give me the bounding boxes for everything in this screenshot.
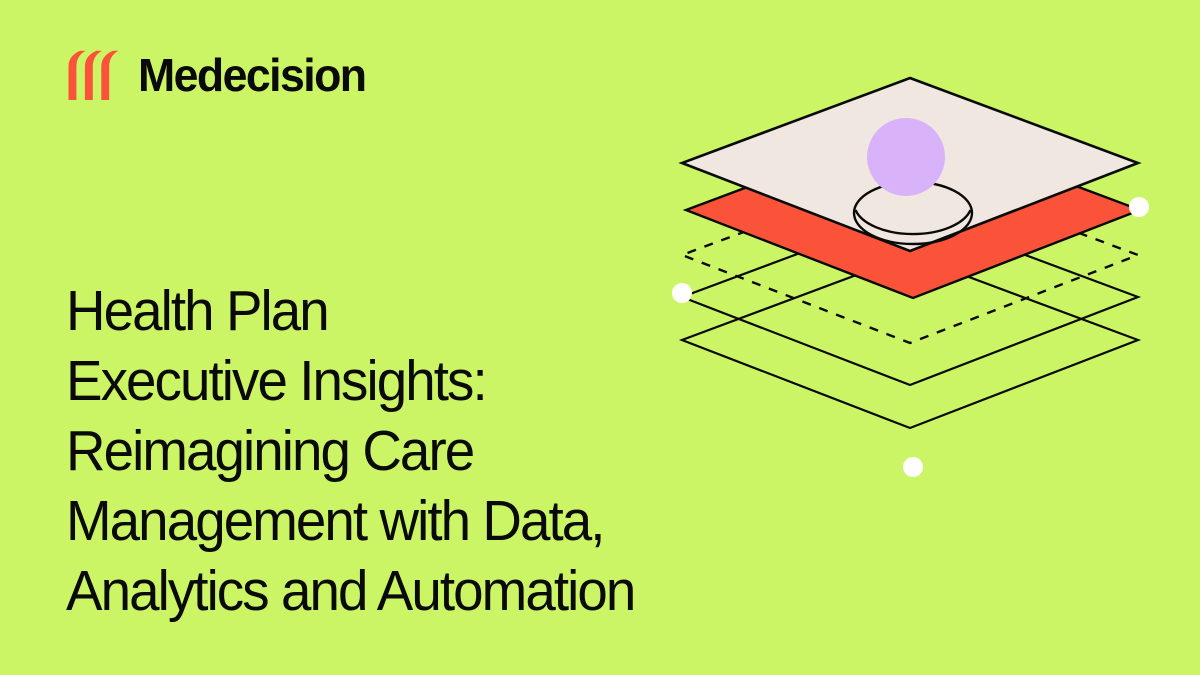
data-sphere	[867, 118, 945, 196]
node-dot-bottom[interactable]	[903, 457, 923, 477]
node-dot-right[interactable]	[1129, 197, 1149, 217]
node-dot-left[interactable]	[672, 283, 692, 303]
slide-canvas: Medecision Health Plan Executive Insight…	[0, 0, 1200, 675]
headline-line-5: Analytics and Automation	[66, 556, 757, 626]
brand-wordmark: Medecision	[138, 52, 365, 98]
medecision-flames-logo-icon	[66, 50, 124, 100]
brand-logo[interactable]: Medecision	[66, 46, 373, 104]
layered-data-platform-illustration	[640, 40, 1180, 540]
